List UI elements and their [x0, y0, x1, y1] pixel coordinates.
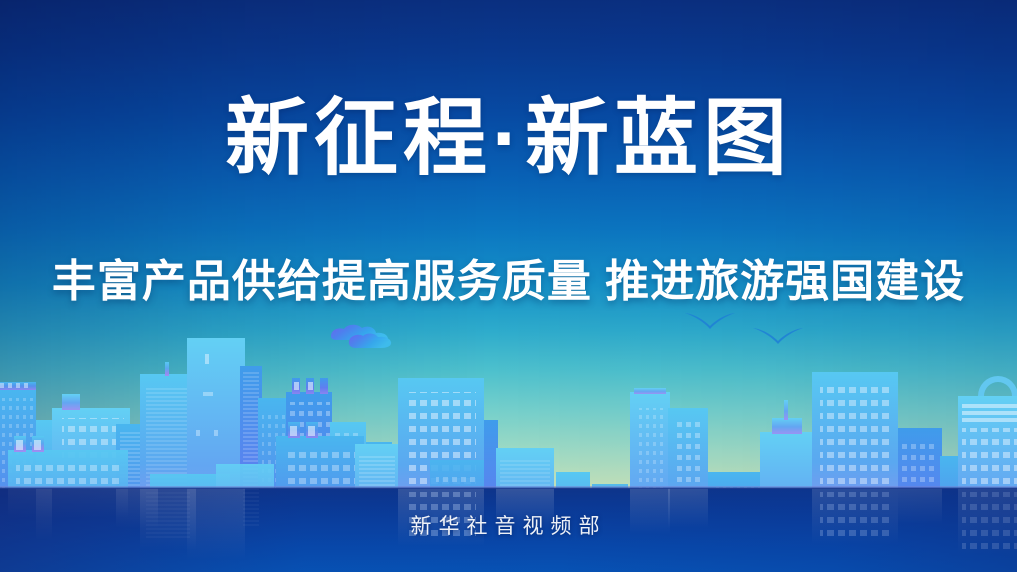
poster-subtitle: 丰富产品供给提高服务质量 推进旅游强国建设 [0, 260, 1017, 304]
poster-canvas: 新征程·新蓝图 丰富产品供给提高服务质量 推进旅游强国建设 新华社音视频部 [0, 0, 1017, 572]
poster-credit: 新华社音视频部 [0, 516, 1017, 537]
poster-title: 新征程·新蓝图 [0, 96, 1017, 180]
horizon-line [0, 486, 1017, 489]
